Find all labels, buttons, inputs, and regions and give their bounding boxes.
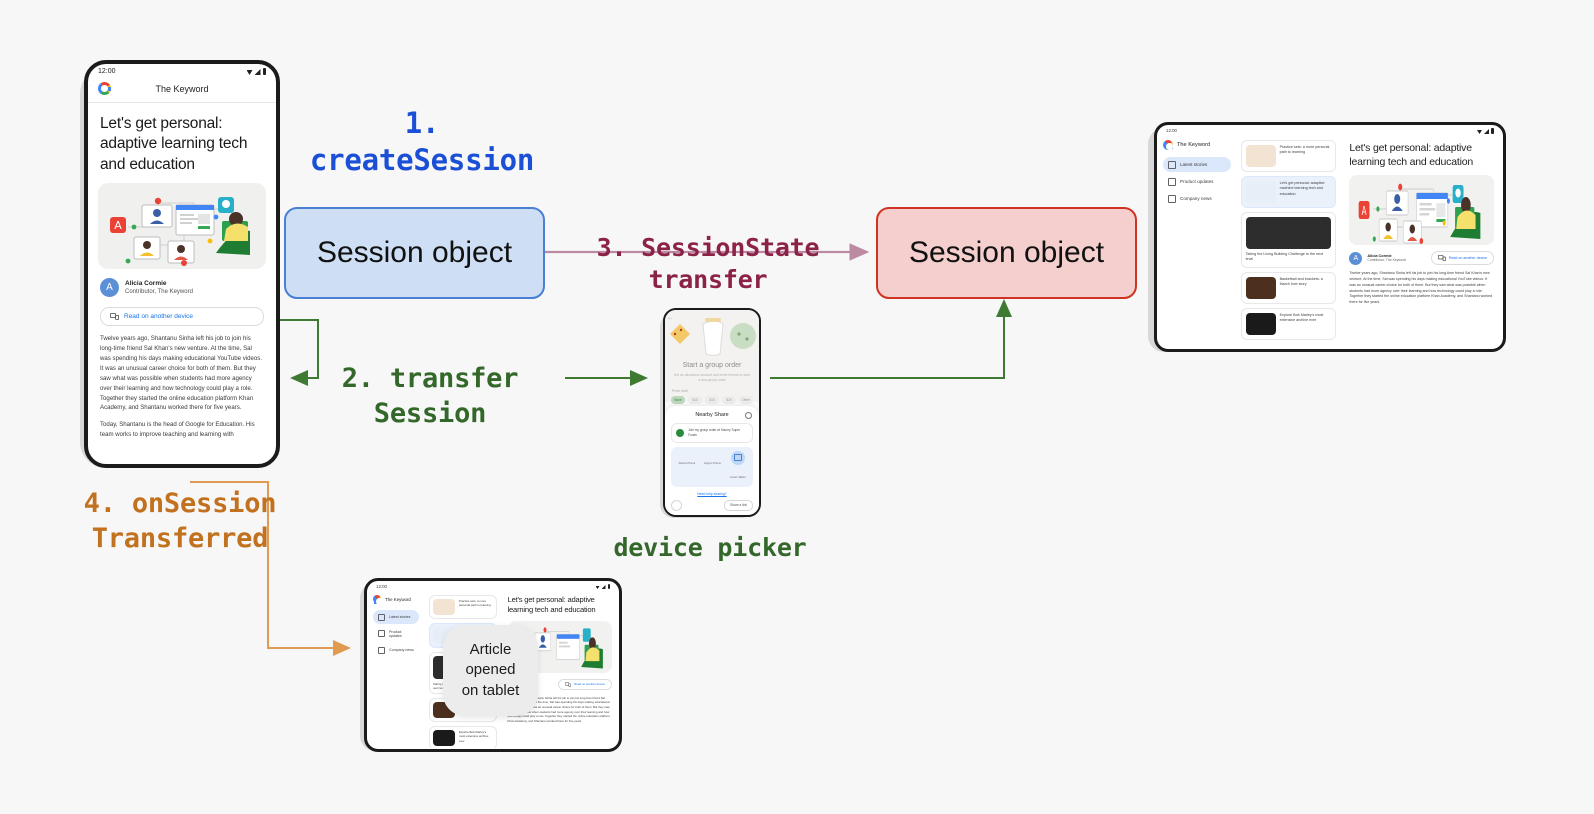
tablet-right-screen: 12:00 The Keyword Latest stories — [1154, 122, 1506, 352]
phone-article-byline: A Alicia Cormie Contributor, The Keyword — [88, 269, 276, 301]
sidebar-item-product-updates[interactable]: Product updates — [373, 626, 419, 641]
tablet-sidebar: The Keyword Latest stories Product updat… — [367, 590, 425, 748]
qr-code-icon[interactable] — [671, 500, 682, 511]
google-logo-icon — [373, 595, 381, 603]
wire-picker-to-target — [770, 302, 1004, 378]
list-item[interactable]: Practice sets: a more personal path to l… — [1241, 140, 1337, 172]
share-a-link-button[interactable]: Share a link — [724, 500, 753, 511]
tablet-article-headline: Let's get personal: adaptive learning te… — [508, 595, 612, 615]
price-chip-15[interactable]: $15 — [705, 396, 719, 404]
sidebar-item-label: Product updates — [389, 630, 414, 638]
label-step-2-transfer-session: 2. transfer Session — [300, 362, 560, 431]
list-item[interactable]: Explore Bob Marley's most extensive arch… — [1241, 308, 1337, 340]
sidebar-item-latest-stories[interactable]: Latest stories — [1163, 157, 1231, 172]
list-item[interactable]: Practice sets: a more personal path to l… — [429, 595, 497, 619]
price-chip-10[interactable]: $10 — [688, 396, 702, 404]
phone-article-headline: Let's get personal: adaptive learning te… — [88, 103, 276, 183]
need-help-sharing-link[interactable]: Need help sharing? — [671, 492, 753, 496]
author-role: Contributor, The Keyword — [1367, 258, 1405, 262]
thumbnail — [1246, 145, 1276, 167]
sidebar-item-company-news[interactable]: Company news — [373, 643, 419, 657]
thumbnail — [433, 599, 455, 615]
thumbnail — [1246, 313, 1276, 335]
nearby-device-3[interactable]: Luca's Tablet — [730, 451, 746, 483]
phone-app-bar: The Keyword — [88, 77, 276, 103]
list-item-title: Taking the Living Building Challenge to … — [1246, 252, 1332, 263]
list-item-title: Explore Bob Marley's most extensive arch… — [1280, 313, 1332, 335]
tablet-icon — [731, 451, 745, 465]
session-object-target-label: Session object — [909, 236, 1104, 270]
tablet-brand-label: The Keyword — [1177, 142, 1210, 148]
device-picker-screen: ← Start a group order Set an allowance a… — [663, 308, 761, 517]
author-name: Alicia Cormie — [125, 279, 193, 288]
tablet-article-reader: Let's get personal: adaptive learning te… — [1340, 135, 1503, 349]
cast-devices-icon — [565, 682, 571, 687]
group-order-illustration: ← — [665, 312, 759, 362]
phone-article-device: 12:00 The Keyword Let's get personal: ad… — [80, 60, 276, 465]
nearby-device-list: Alicia's Phone Hugo's Phone Luca's Table… — [671, 447, 753, 487]
sidebar-item-latest-stories[interactable]: Latest stories — [373, 610, 419, 624]
phone-article-body: Twelve years ago, Shantanu Sinha left hi… — [88, 326, 276, 440]
tablet-layout: The Keyword Latest stories Product updat… — [1157, 135, 1503, 349]
list-item[interactable]: Let's get personal: adaptive machine lea… — [1241, 176, 1337, 208]
sidebar-item-label: Latest stories — [389, 615, 410, 619]
sheet-footer: Share a link — [671, 500, 753, 511]
share-content-card: Join my group order at Savory Super Food… — [671, 423, 753, 443]
sidebar-item-label: Product updates — [1180, 179, 1213, 184]
svg-text:A: A — [114, 219, 122, 232]
list-item[interactable]: Taking the Living Building Challenge to … — [1241, 212, 1337, 268]
svg-text:←: ← — [668, 316, 672, 322]
phone-article-paragraph-2: Today, Shantanu is the head of Google fo… — [100, 420, 264, 440]
tablet-article-list: Practice sets: a more personal path to l… — [1237, 135, 1341, 349]
news-icon — [378, 647, 385, 654]
group-order-subtitle: Set an allowance amount and invite frien… — [674, 373, 750, 383]
list-item-title: Practice sets: a more personal path to l… — [1280, 145, 1332, 167]
thumbnail — [1246, 217, 1332, 249]
price-limit-label: Price limit — [672, 389, 688, 393]
nearby-device-1-label: Alicia's Phone — [678, 462, 695, 465]
status-time: 12:00 — [1166, 128, 1177, 134]
tablet-brand: The Keyword — [1163, 140, 1231, 150]
read-on-another-device-button[interactable]: Read on another device — [1431, 251, 1494, 265]
caption-device-picker: device picker — [575, 532, 845, 564]
svg-text:A: A — [1362, 206, 1367, 219]
nearby-device-2-label: Hugo's Phone — [704, 462, 721, 465]
sidebar-item-product-updates[interactable]: Product updates — [1163, 174, 1231, 189]
google-logo-icon — [98, 82, 111, 95]
thumbnail — [1246, 181, 1276, 203]
status-signal-icons — [247, 68, 267, 75]
read-button-label: Read on another device — [1449, 256, 1487, 260]
read-button-label: Read on another device — [574, 682, 605, 686]
status-time: 12:00 — [376, 584, 387, 589]
session-object-source-box: Session object — [284, 207, 545, 299]
app-icon — [676, 429, 684, 437]
tablet-article-headline: Let's get personal: adaptive learning te… — [1349, 142, 1494, 169]
stories-icon — [1168, 161, 1176, 169]
updates-icon — [1168, 178, 1176, 186]
diagram-canvas: 1. createSession 2. transfer Session 3. … — [0, 0, 1594, 814]
sidebar-item-label: Company news — [1180, 196, 1212, 201]
tablet-article-body: Twelve years ago, Shantanu Sinha left hi… — [1349, 271, 1494, 306]
price-limit-chips[interactable]: None $10 $15 $20 Other — [671, 396, 753, 404]
phone-status-bar: 12:00 — [88, 64, 276, 77]
author-role: Contributor, The Keyword — [125, 288, 193, 297]
session-object-source-label: Session object — [317, 236, 512, 270]
news-icon — [1168, 195, 1176, 203]
status-signal-icons — [596, 584, 611, 589]
nearby-device-2[interactable]: Hugo's Phone — [704, 451, 721, 483]
list-item[interactable]: Explore Bob Marley's most extensive arch… — [429, 726, 497, 748]
price-chip-none[interactable]: None — [671, 396, 685, 404]
read-button-label: Read on another device — [124, 313, 193, 320]
list-item-title: Basketball and brackets: a March love st… — [1280, 277, 1332, 299]
session-object-target-box: Session object — [876, 207, 1137, 299]
status-time: 12:00 — [98, 68, 116, 75]
tablet-right-device: 12:00 The Keyword Latest stories — [1148, 122, 1504, 350]
thumbnail — [433, 730, 455, 746]
cast-devices-icon — [1438, 255, 1446, 261]
price-chip-other[interactable]: Other — [739, 396, 753, 404]
status-signal-icons — [1477, 128, 1494, 134]
price-chip-20[interactable]: $20 — [722, 396, 736, 404]
updates-icon — [378, 630, 385, 637]
phone-device-picker: ← Start a group order Set an allowance a… — [660, 308, 760, 516]
tablet-status-bar: 12:00 — [1157, 125, 1503, 135]
stories-icon — [378, 614, 385, 621]
google-logo-icon — [1163, 140, 1173, 150]
tablet-byline: A Alicia Cormie Contributor, The Keyword… — [1349, 251, 1494, 265]
nearby-share-header: Nearby Share — [671, 412, 753, 418]
list-item-title: Practice sets: a more personal path to l… — [459, 599, 493, 615]
read-on-another-device-button[interactable]: Read on another device — [558, 679, 612, 690]
cast-devices-icon — [110, 313, 119, 320]
list-item-title: Let's get personal: adaptive machine lea… — [1280, 181, 1332, 203]
tablet-sidebar: The Keyword Latest stories Product updat… — [1157, 135, 1237, 349]
tablet-brand: The Keyword — [373, 595, 419, 603]
phone-article-screen: 12:00 The Keyword Let's get personal: ad… — [84, 60, 280, 468]
avatar: A — [100, 278, 119, 297]
list-item[interactable]: Basketball and brackets: a March love st… — [1241, 272, 1337, 304]
group-order-title: Start a group order — [665, 362, 759, 369]
list-item-title: Explore Bob Marley's most extensive arch… — [459, 730, 493, 746]
tooltip-article-opened-on-tablet: Article opened on tablet — [443, 625, 538, 716]
hero-illustration-svg: A — [98, 183, 266, 269]
read-on-another-device-button[interactable]: Read on another device — [100, 307, 264, 326]
tablet-article-hero-illustration: A — [1349, 175, 1494, 245]
label-step-1-create-session: 1. createSession — [262, 105, 582, 179]
label-step-4-on-session-transferred: 4. onSession Transferred — [40, 487, 320, 556]
phone-article-paragraph-1: Twelve years ago, Shantanu Sinha left hi… — [100, 334, 264, 413]
phone-article-hero-illustration: A — [98, 183, 266, 269]
sidebar-item-label: Latest stories — [1180, 162, 1207, 167]
nearby-share-sheet: Nearby Share Join my group order at Savo… — [665, 406, 759, 515]
share-card-text: Join my group order at Savory Super Food… — [688, 428, 748, 438]
tablet-status-bar: 12:00 — [367, 581, 619, 590]
gear-icon[interactable] — [745, 412, 752, 419]
nearby-device-1[interactable]: Alicia's Phone — [678, 451, 695, 483]
phone-app-title: The Keyword — [98, 84, 266, 94]
tablet-brand-label: The Keyword — [385, 597, 411, 602]
nearby-share-title: Nearby Share — [695, 412, 728, 418]
avatar: A — [1349, 252, 1362, 265]
label-step-3-session-state-transfer: 3. SessionState transfer — [548, 232, 868, 296]
sidebar-item-company-news[interactable]: Company news — [1163, 191, 1231, 206]
nearby-device-3-label: Luca's Tablet — [730, 476, 746, 479]
hero-illustration-svg: A — [1349, 175, 1494, 245]
sidebar-item-label: Company news — [389, 648, 414, 652]
thumbnail — [1246, 277, 1276, 299]
